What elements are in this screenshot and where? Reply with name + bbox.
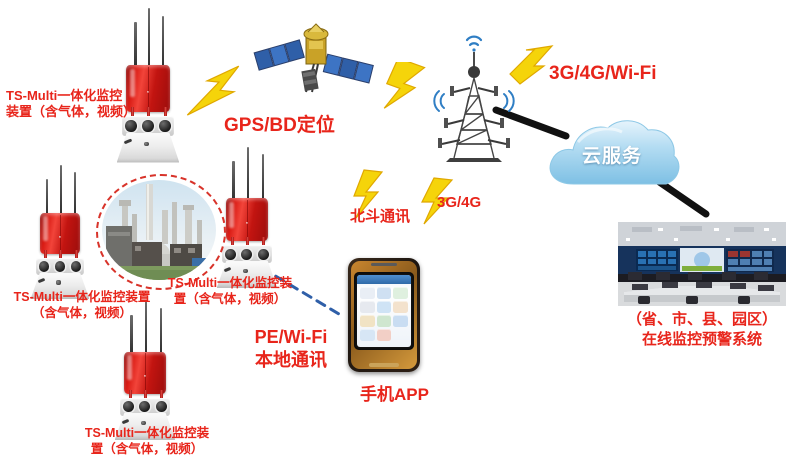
rugged-handheld-terminal[interactable] [348, 258, 420, 372]
sensor-device-mid-left [28, 163, 92, 295]
device-white-cone [117, 133, 180, 163]
antenna-group [114, 8, 182, 71]
app-media[interactable] [393, 301, 408, 313]
label-phone-app: 手机APP [360, 384, 429, 405]
label-beidou: 北斗通讯 [350, 208, 410, 227]
lightning-bolt-gps-downlink [380, 62, 440, 118]
industrial-plant-photo [102, 180, 216, 280]
app-gas[interactable] [360, 315, 375, 327]
label-device-top-left: TS-Multi一体化监控 装置（含气体，视频） [6, 88, 142, 121]
label-device-mid-left: TS-Multi一体化监控装置 （含气体，视频） [2, 290, 162, 321]
app-chart[interactable] [377, 301, 392, 313]
app-pause[interactable] [393, 315, 408, 327]
label-3g4g-wifi: 3G/4G/Wi-Fi [549, 62, 657, 86]
app-tools[interactable] [377, 287, 392, 299]
satellite-icon [248, 8, 380, 96]
label-3g4g: 3G/4G [437, 194, 481, 213]
sensor-device-mid-right [214, 146, 280, 284]
device-red-housing [226, 198, 268, 241]
app-docs[interactable] [360, 301, 375, 313]
phone-status-bar [357, 275, 411, 284]
control-room-photo [618, 222, 786, 306]
phone-speaker [371, 263, 397, 266]
app-compass[interactable] [360, 329, 375, 341]
label-device-bottom: TS-Multi一体化监控装 置（含气体，视频） [72, 426, 222, 457]
app-alarm[interactable] [377, 329, 392, 341]
label-pe-wifi: PE/Wi-Fi 本地通讯 [236, 326, 346, 373]
label-gps-bd: GPS/BD定位 [224, 114, 335, 138]
lightning-bolt-gps-uplink [184, 62, 250, 120]
antenna-group [28, 163, 92, 218]
phone-app-grid[interactable] [357, 284, 411, 344]
device-red-housing [40, 213, 81, 254]
phone-screen[interactable] [357, 275, 411, 347]
phone-bezel [354, 272, 414, 350]
app-settings[interactable] [393, 287, 408, 299]
diagram-canvas: 云服务 [0, 0, 797, 464]
phone-bottom-button[interactable] [369, 363, 399, 367]
antenna-group [214, 146, 280, 204]
app-home[interactable] [360, 287, 375, 299]
sensor-device-top-left [114, 8, 182, 158]
device-red-housing [124, 352, 166, 394]
label-device-mid-right: TS-Multi一体化监控装 置（含气体，视频） [160, 276, 300, 307]
cloud-service-icon: 云服务 [538, 112, 686, 196]
app-map[interactable] [377, 315, 392, 327]
cloud-label: 云服务 [538, 112, 686, 196]
label-control-room: （省、市、县、园区） 在线监控预警系统 [604, 310, 797, 351]
